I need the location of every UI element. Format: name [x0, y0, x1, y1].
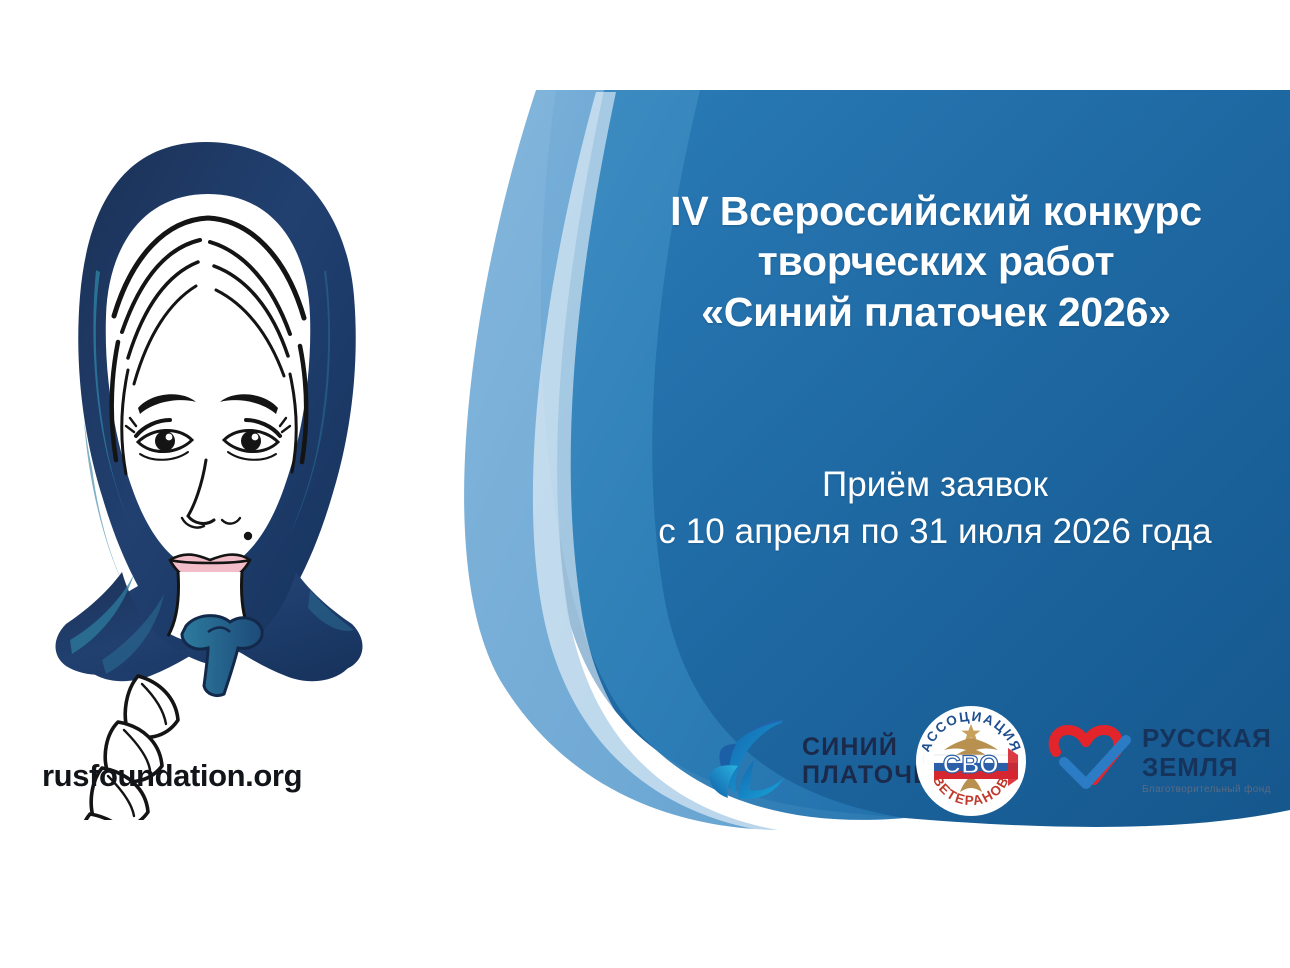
woman-illustration — [10, 120, 410, 820]
headline-line-2: творческих работ — [600, 236, 1272, 286]
website-url[interactable]: rusfoundation.org — [42, 758, 302, 794]
submission-period: Приём заявок с 10 апреля по 31 июля 2026… — [590, 462, 1280, 555]
headline-line-1: IV Всероссийский конкурс — [600, 186, 1272, 236]
logo-svo-veterans[interactable]: АССОЦИАЦИЯ ВЕТЕРАНОВ — [912, 702, 1030, 820]
heart-checkmark-icon — [1046, 722, 1134, 798]
poster: rusfoundation.org IV Всероссийский конку… — [0, 0, 1290, 968]
svo-veterans-emblem-icon: АССОЦИАЦИЯ ВЕТЕРАНОВ — [912, 702, 1030, 820]
subtitle-line-1: Приём заявок — [590, 462, 1280, 509]
headline-line-3: «Синий платочек 2026» — [600, 287, 1272, 337]
subtitle-line-2: с 10 апреля по 31 июля 2026 года — [590, 509, 1280, 556]
rus-zemlya-tagline: Благотворительный фонд — [1142, 785, 1272, 795]
rus-zemlya-line-1: РУССКАЯ — [1142, 725, 1272, 751]
page-title: IV Всероссийский конкурс творческих рабо… — [600, 186, 1272, 337]
logo-blue-scarf[interactable]: СИНИЙ ПЛАТОЧЕК — [700, 714, 948, 808]
logo-row: СИНИЙ ПЛАТОЧЕК АССОЦИАЦИЯ ВЕТЕРАНОВ — [700, 700, 1270, 820]
rus-zemlya-line-2: ЗЕМЛЯ — [1142, 754, 1272, 780]
rus-zemlya-wordmark: РУССКАЯ ЗЕМЛЯ Благотворительный фонд — [1142, 725, 1272, 795]
svo-center-text: СВО — [943, 751, 999, 779]
logo-rus-zemlya[interactable]: РУССКАЯ ЗЕМЛЯ Благотворительный фонд — [1046, 722, 1272, 798]
scarf-swoosh-icon — [700, 714, 796, 808]
